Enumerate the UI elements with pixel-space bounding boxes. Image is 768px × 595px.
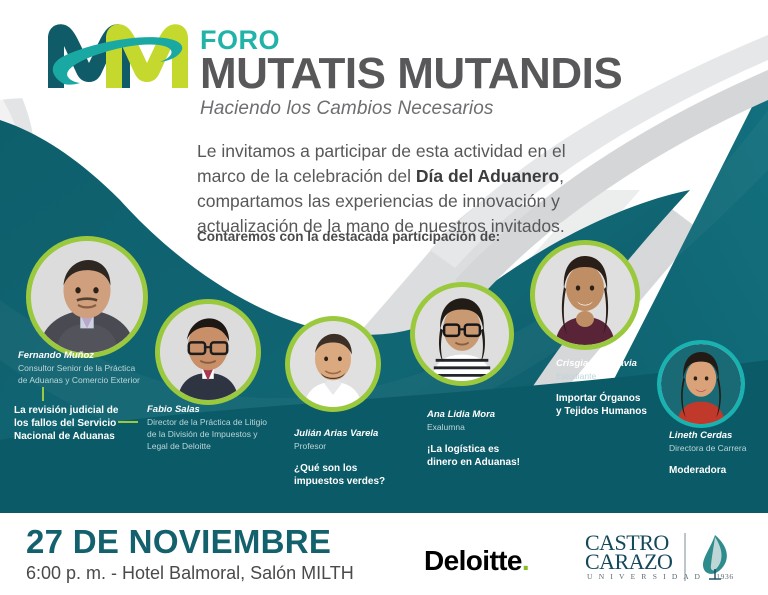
speaker-role-line-1: Exalumna (427, 422, 520, 433)
speaker-role-line-2: de Aduanas y Comercio Exterior (18, 375, 140, 386)
intro-line-1: Le invitamos a participar de esta activi… (197, 141, 566, 161)
topic-line-1: La revisión judicial de (14, 404, 118, 417)
avatar-ana (410, 282, 514, 386)
topic-line-1: ¿Qué son los (294, 462, 385, 475)
speaker-ana: Ana Lidia Mora Exalumna ¡La logística es… (427, 409, 520, 469)
portrait-ana (415, 287, 509, 381)
avatar-julian (285, 316, 381, 412)
connector-fabio (118, 421, 138, 423)
avatar-crisgianni (530, 240, 640, 350)
speaker-role-line-1: Directora de Carrera (669, 443, 746, 454)
topic-line-2: dinero en Aduanas! (427, 456, 520, 469)
svg-text:1936: 1936 (716, 572, 733, 581)
portrait-julian (290, 321, 376, 407)
brand-logo: FORO MUTATIS MUTANDIS Haciendo los Cambi… (44, 16, 622, 120)
portrait-lineth (661, 344, 741, 424)
speaker-name: Fabio Salas (147, 404, 267, 416)
sponsor-deloitte-logo: Deloitte. (424, 545, 529, 577)
sponsor-university-logo: CASTRO CARAZO U N I V E R S I D A D 1936 (585, 531, 745, 583)
speaker-name: Lineth Cerdas (669, 430, 746, 442)
footer-bar: 27 DE NOVIEMBRE 6:00 p. m. - Hotel Balmo… (0, 513, 768, 595)
speaker-name: Crisgianni Artavia (556, 358, 647, 370)
topic-line-3: Nacional de Aduanas (14, 430, 118, 443)
speaker-role-line-1: Consultor Senior de la Práctica (18, 363, 140, 374)
intro-line-3: compartamos las experiencias de innovaci… (197, 191, 560, 211)
intro-subheading: Contaremos con la destacada participació… (197, 229, 617, 244)
event-date: 27 DE NOVIEMBRE (26, 523, 331, 561)
topic-line-1: Importar Órganos (556, 392, 647, 405)
intro-line-2-post: , (559, 166, 564, 186)
speaker-role-line-1: Estudiante (556, 371, 647, 382)
topic-line-2: impuestos verdes? (294, 475, 385, 488)
intro-line-2-pre: marco de la celebración del (197, 166, 416, 186)
avatar-lineth (657, 340, 745, 428)
topic-line-1: Moderadora (669, 464, 746, 477)
connector-fernando (42, 387, 44, 401)
svg-text:CARAZO: CARAZO (585, 549, 672, 574)
speaker-name: Julián Arias Varela (294, 428, 385, 440)
event-place: 6:00 p. m. - Hotel Balmoral, Salón MILTH (26, 563, 354, 584)
intro-paragraph: Le invitamos a participar de esta activi… (197, 139, 579, 238)
topic-line-2: y Tejidos Humanos (556, 405, 647, 418)
portrait-fernando (31, 241, 143, 353)
brand-tagline: Haciendo los Cambios Necesarios (200, 98, 622, 120)
speaker-fabio: Fabio Salas Director de la Práctica de L… (147, 404, 267, 452)
speaker-fernando: Fernando Muñoz Consultor Senior de la Pr… (18, 350, 140, 386)
deloitte-wordmark: Deloitte (424, 545, 522, 576)
speaker-julian: Julián Arias Varela Profesor ¿Qué son lo… (294, 428, 385, 488)
portrait-fabio (160, 304, 256, 400)
speaker-role-line-1: Profesor (294, 441, 385, 452)
speaker-name: Ana Lidia Mora (427, 409, 520, 421)
intro-highlight: Día del Aduanero (416, 166, 559, 186)
portrait-crisgianni (535, 245, 635, 345)
brand-title-block: FORO MUTATIS MUTANDIS Haciendo los Cambi… (200, 16, 622, 120)
topic-line-1: ¡La logística es (427, 443, 520, 456)
speaker-role-line-3: Legal de Deloitte (147, 441, 267, 452)
speaker-role-line-1: Director de la Práctica de Litigio (147, 417, 267, 428)
mm-monogram-icon (44, 16, 194, 96)
topic-line-2: los fallos del Servicio (14, 417, 118, 430)
deloitte-dot: . (522, 545, 529, 576)
avatar-fabio (155, 299, 261, 405)
speaker-role-line-2: de la División de Impuestos y (147, 429, 267, 440)
avatar-fernando (26, 236, 148, 358)
brand-title: MUTATIS MUTANDIS (200, 52, 622, 96)
speaker-topic-fernando: La revisión judicial de los fallos del S… (14, 404, 118, 443)
speaker-name: Fernando Muñoz (18, 350, 140, 362)
event-poster: FORO MUTATIS MUTANDIS Haciendo los Cambi… (0, 0, 768, 595)
speaker-lineth: Lineth Cerdas Directora de Carrera Moder… (669, 430, 746, 477)
speaker-crisgianni: Crisgianni Artavia Estudiante Importar Ó… (556, 358, 647, 418)
